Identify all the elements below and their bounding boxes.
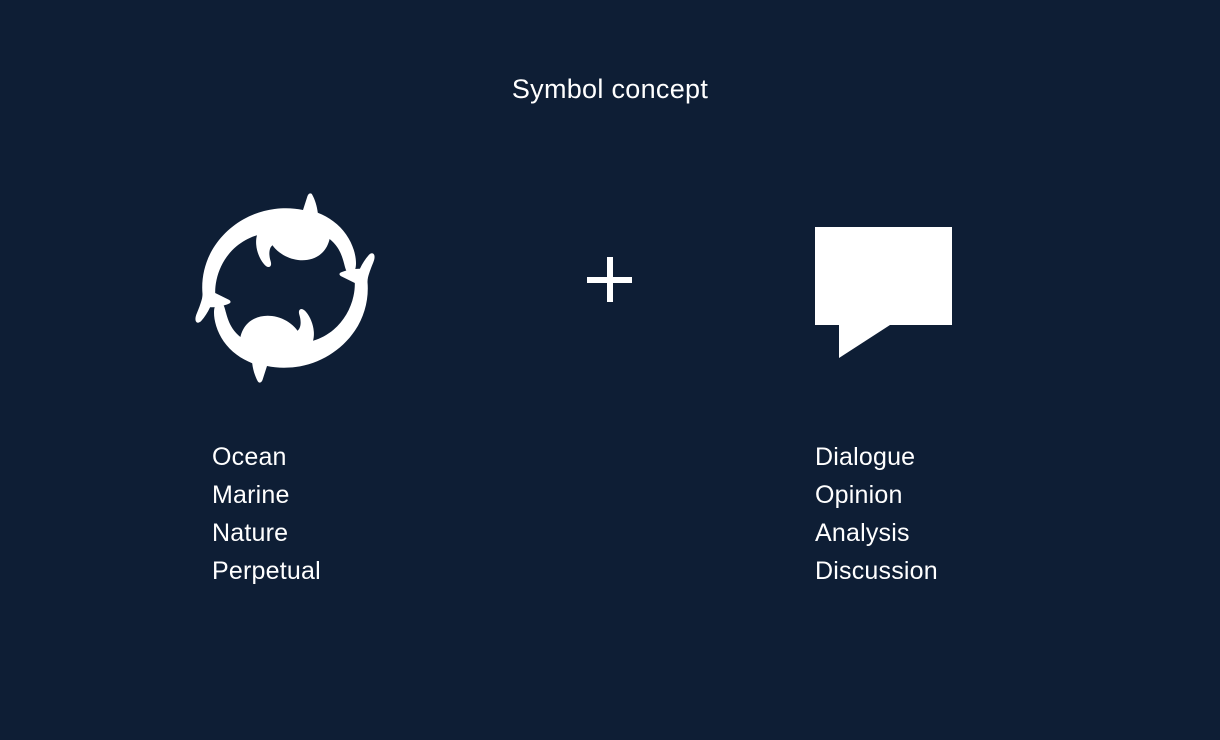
left-concept-keyword-list: Ocean Marine Nature Perpetual [212,438,321,590]
list-item: Analysis [815,514,938,552]
list-item: Nature [212,514,321,552]
plus-icon [587,257,632,302]
list-item: Ocean [212,438,321,476]
list-item: Perpetual [212,552,321,590]
list-item: Dialogue [815,438,938,476]
list-item: Marine [212,476,321,514]
right-concept-keyword-list: Dialogue Opinion Analysis Discussion [815,438,938,590]
list-item: Opinion [815,476,938,514]
plus-icon-vertical-bar [607,257,613,302]
page-title: Symbol concept [0,72,1220,106]
list-item: Discussion [815,552,938,590]
speech-bubble-icon [815,227,955,360]
two-dolphins-circle-icon [190,193,380,383]
symbol-concept-board: Symbol concept Ocean Marine Nature Perpe… [0,0,1220,740]
